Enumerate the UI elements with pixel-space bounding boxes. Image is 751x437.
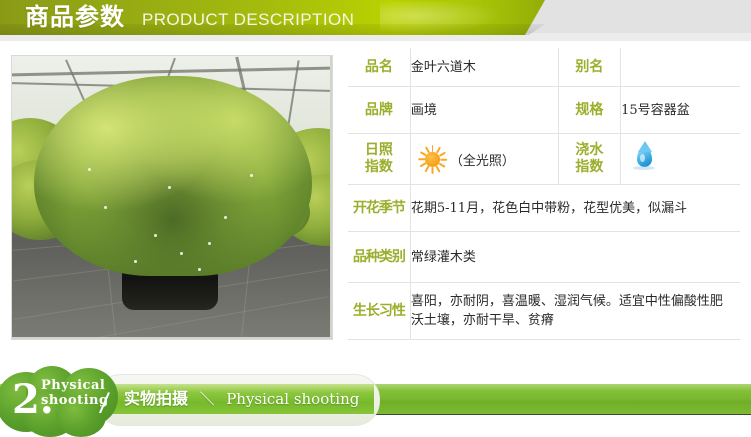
table-row: 品名 金叶六道木 别名 xyxy=(348,48,740,87)
spec-label-rizhao-line2: 指数 xyxy=(348,159,410,176)
spec-label-bieming: 别名 xyxy=(558,48,620,87)
spec-value-jiaoshui xyxy=(621,134,740,185)
page-title-en: PRODUCT DESCRIPTION xyxy=(142,9,354,31)
badge-label-line2: shooting xyxy=(41,393,109,408)
flower-dot xyxy=(154,234,157,237)
spec-value-pinming: 金叶六道木 xyxy=(410,48,558,87)
water-drop-shadow xyxy=(633,166,655,170)
sun-note-label: （全光照） xyxy=(450,150,515,169)
footer-caption: 实物拍摄 ＼ Physical shooting xyxy=(124,388,359,410)
spec-label-jiaoshui-line1: 浇水 xyxy=(559,142,620,159)
spec-label-pinpai: 品牌 xyxy=(348,87,410,134)
table-row: 生长习性 喜阳，亦耐阴，喜温暖、湿润气候。适宜中性偏酸性肥沃土壤，亦耐干旱、贫瘠 xyxy=(348,283,740,340)
product-description-page: 商品参数 PRODUCT DESCRIPTION xyxy=(0,0,751,437)
section-header: 商品参数 PRODUCT DESCRIPTION xyxy=(0,0,751,41)
spec-value-guige: 15号容器盆 xyxy=(621,87,740,134)
spec-label-rizhao-line1: 日照 xyxy=(348,142,410,159)
table-row: 品种类别 常绿灌木类 xyxy=(348,232,740,283)
water-drop-icon xyxy=(637,147,652,167)
spec-label-shengzhangxixing: 生长习性 xyxy=(348,283,410,340)
badge-label-line1: Physical xyxy=(41,378,109,393)
flower-dot xyxy=(250,174,253,177)
abelia-shrub xyxy=(34,76,312,276)
flower-dot xyxy=(208,242,211,245)
spec-value-rizhao: （全光照） xyxy=(410,134,558,185)
footer-badge: 2. Physical shooting / xyxy=(0,366,132,437)
spec-label-rizhao: 日照 指数 xyxy=(348,134,410,185)
table-row: 品牌 画境 规格 15号容器盆 xyxy=(348,87,740,134)
spec-table: 品名 金叶六道木 别名 品牌 画境 规格 15号容器盆 日照 指数 xyxy=(348,48,740,340)
spec-value-bieming xyxy=(621,48,740,87)
flower-dot xyxy=(180,252,183,255)
footer-caption-en: Physical shooting xyxy=(226,390,359,408)
spec-value-kaihuajijie: 花期5-11月，花色白中带粉，花型优美，似漏斗 xyxy=(410,185,740,232)
flower-dot xyxy=(134,260,137,263)
product-photo xyxy=(11,55,333,340)
flower-dot xyxy=(168,186,171,189)
flower-dot xyxy=(88,168,91,171)
sun-rays xyxy=(418,145,447,174)
spec-label-kaihuajijie: 开花季节 xyxy=(348,185,410,232)
spec-label-pinming: 品名 xyxy=(348,48,410,87)
section-footer: 实物拍摄 ＼ Physical shooting 2. Physical sho… xyxy=(0,366,751,418)
spec-value-pinpai: 画境 xyxy=(410,87,558,134)
table-row: 开花季节 花期5-11月，花色白中带粉，花型优美，似漏斗 xyxy=(348,185,740,232)
flower-dot xyxy=(224,216,227,219)
sun-icon xyxy=(425,152,440,167)
flower-dot xyxy=(198,268,201,271)
table-row: 日照 指数 xyxy=(348,134,740,185)
spec-value-pinzhongleibie: 常绿灌木类 xyxy=(410,232,740,283)
spec-value-shengzhangxixing: 喜阳，亦耐阴，喜温暖、湿润气候。适宜中性偏酸性肥沃土壤，亦耐干旱、贫瘠 xyxy=(410,283,740,340)
spec-label-pinzhongleibie: 品种类别 xyxy=(348,232,410,283)
flower-dot xyxy=(104,206,107,209)
spec-label-guige: 规格 xyxy=(558,87,620,134)
footer-caption-cn: 实物拍摄 xyxy=(124,389,188,408)
plant-photo-icon xyxy=(12,56,330,337)
footer-caption-separator: ＼ xyxy=(194,390,221,408)
spec-label-jiaoshui: 浇水 指数 xyxy=(558,134,620,185)
badge-label: Physical shooting xyxy=(41,378,109,408)
page-title-cn: 商品参数 xyxy=(25,3,125,33)
spec-label-jiaoshui-line2: 指数 xyxy=(559,159,620,176)
